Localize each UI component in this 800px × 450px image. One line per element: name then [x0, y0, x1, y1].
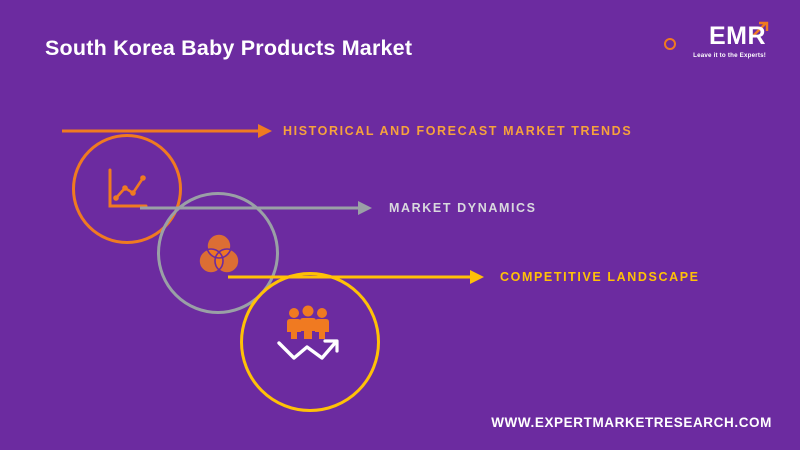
arrow-head: [358, 201, 372, 215]
footer-url: WWW.EXPERTMARKETRESEARCH.COM: [491, 415, 772, 430]
label-market-dynamics: MARKET DYNAMICS: [389, 201, 537, 215]
label-market-trends: HISTORICAL AND FORECAST MARKET TRENDS: [283, 124, 632, 138]
arrow-shaft: [228, 276, 472, 279]
page-title: South Korea Baby Products Market: [45, 36, 412, 61]
logo-dot-icon: [664, 38, 676, 50]
arrow-head: [470, 270, 484, 284]
logo-text: EMR: [709, 24, 766, 49]
arrow-shaft: [140, 207, 360, 210]
arrow-market-dynamics: [140, 201, 372, 215]
label-competitive-landscape: COMPETITIVE LANDSCAPE: [500, 270, 700, 284]
logo-tagline: Leave it to the Experts!: [693, 52, 766, 59]
arrow-market-trends: [62, 124, 272, 138]
infographic-canvas: South Korea Baby Products Market EMR Lea…: [0, 0, 800, 450]
arrow-shaft: [62, 130, 260, 133]
arrow-competitive-landscape: [228, 270, 484, 284]
people-growth-icon: [275, 305, 341, 363]
emr-logo: EMR Leave it to the Experts!: [662, 18, 772, 70]
arrow-head: [258, 124, 272, 138]
